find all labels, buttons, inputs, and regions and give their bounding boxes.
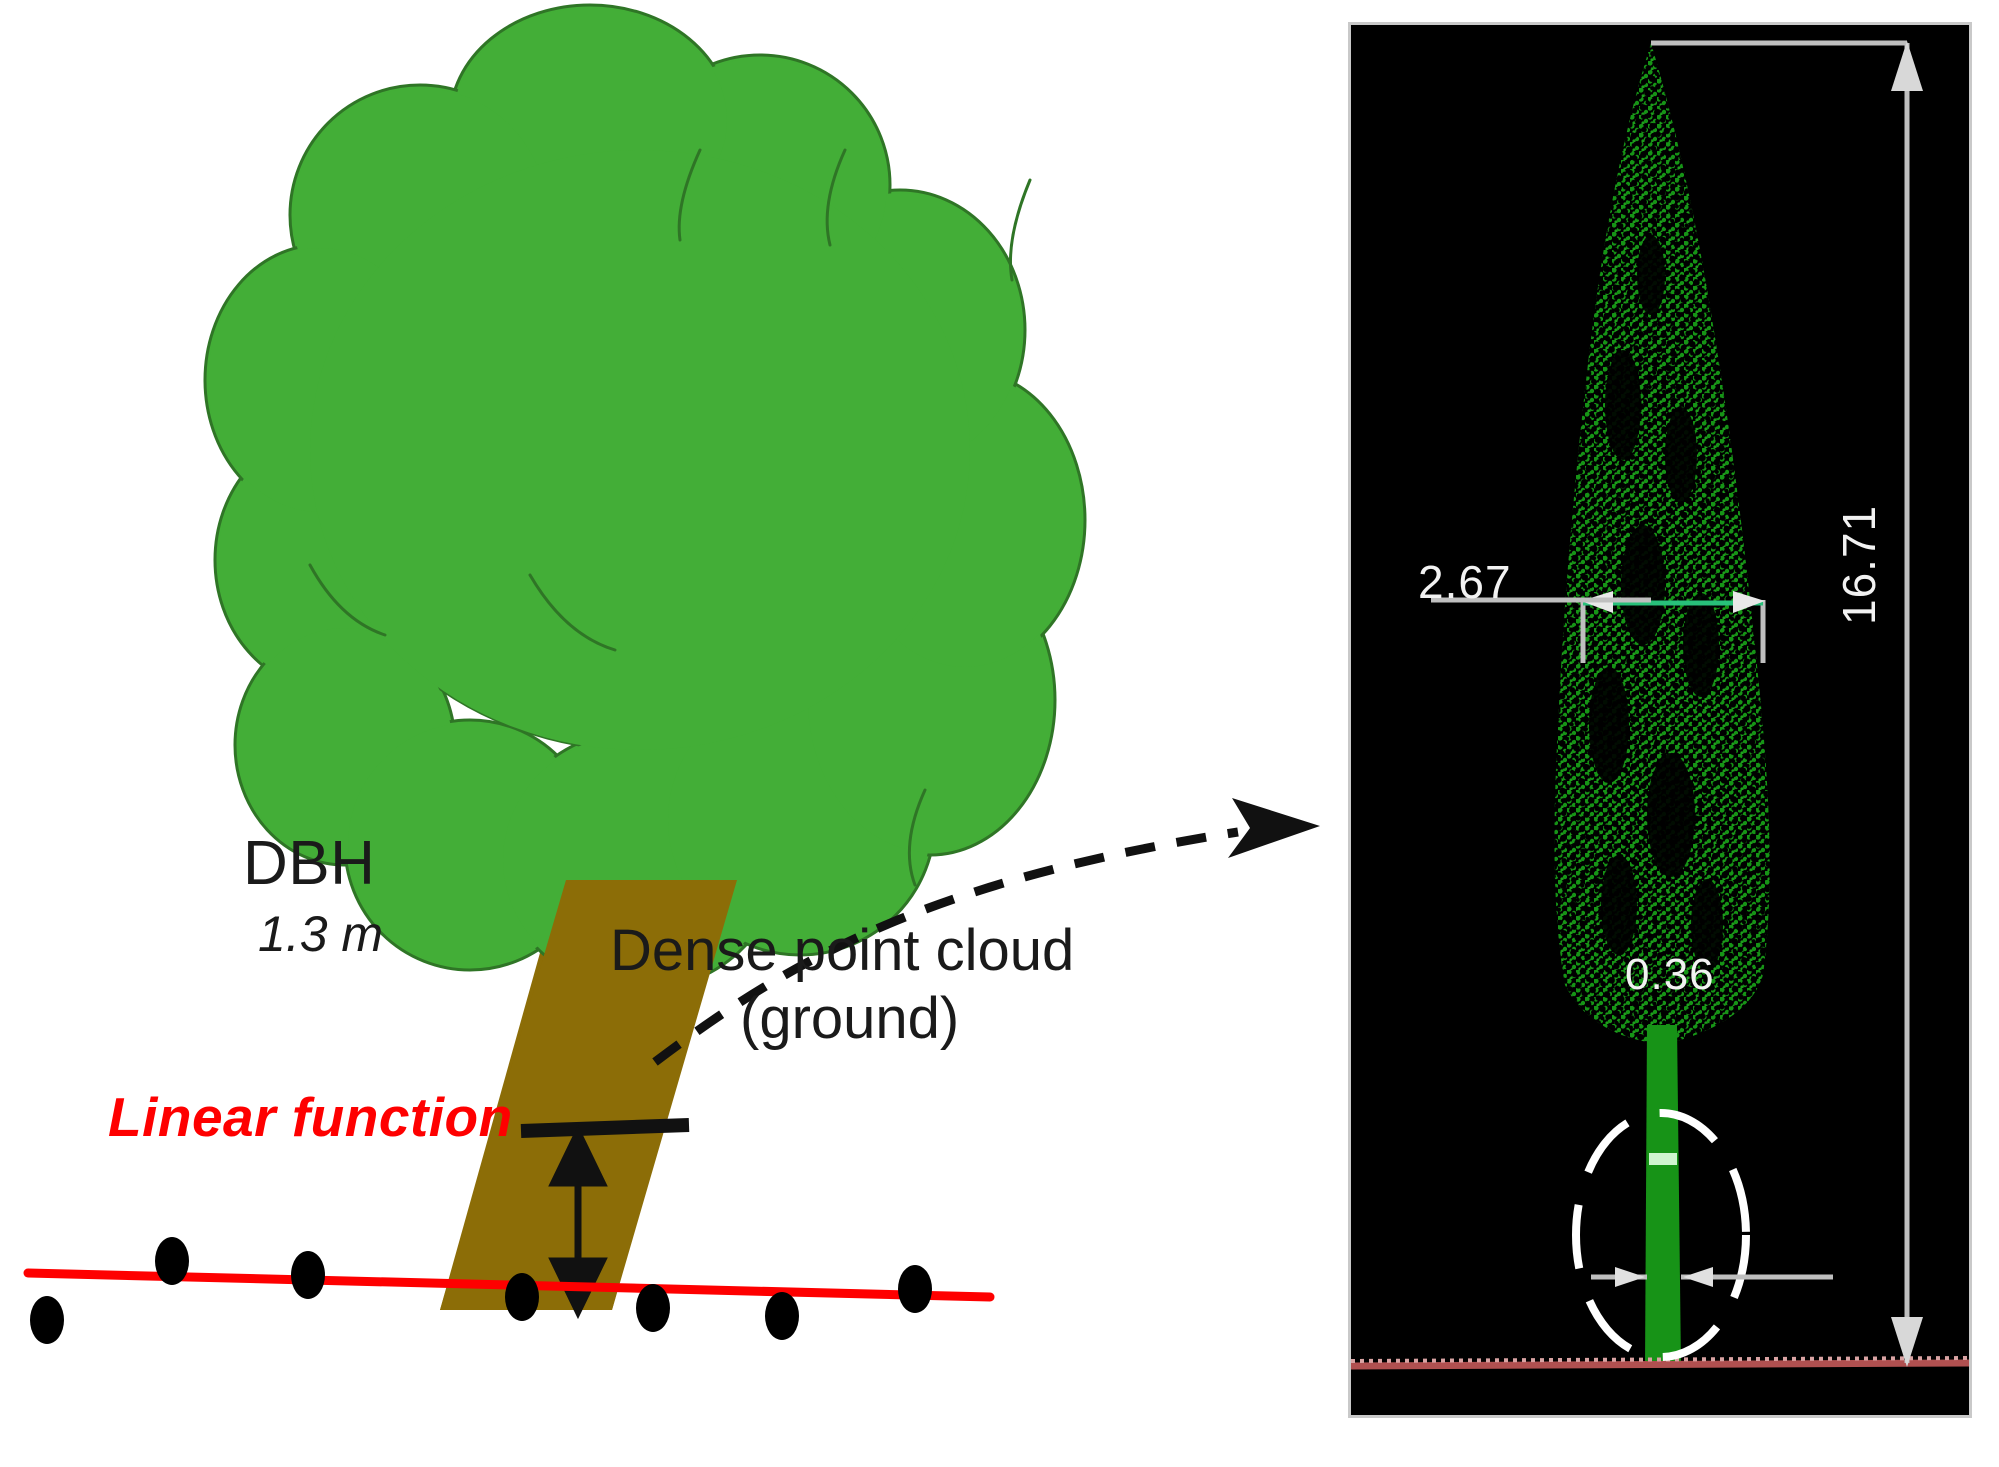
crown-width-value: 2.67 [1418,555,1512,609]
point-cloud-panel: 2.67 16.71 0.36 [1348,22,1972,1418]
dense-point-cloud-label-line2: (ground) [740,985,959,1052]
ground-point [765,1292,799,1340]
dbh-label: DBH [243,828,375,899]
ground-point [30,1296,64,1344]
ground-point [291,1251,325,1299]
trunk-diameter-value: 0.36 [1625,950,1715,1000]
tree-height-value: 16.71 [1832,505,1886,625]
trunk-diameter-arrow-right [1683,1267,1713,1287]
ground-point [505,1273,539,1321]
trunk-diameter-arrow-left [1615,1267,1645,1287]
dbh-tick-mark [521,1125,689,1131]
figure-root: DBH 1.3 m Dense point cloud (ground) Lin… [0,0,1999,1467]
tree-point-cloud [1531,25,1791,1065]
point-cloud-svg [1351,25,1969,1415]
ground-point [636,1284,670,1332]
ground-point [898,1265,932,1313]
height-arrow-top [1891,41,1923,91]
tree-schematic-svg [0,0,1350,1467]
dense-point-cloud-label-line1: Dense point cloud [610,917,1074,984]
linear-function-label: Linear function [108,1085,513,1149]
tree-schematic-panel: DBH 1.3 m Dense point cloud (ground) Lin… [0,0,1350,1467]
panel-ground-line [1351,1363,1969,1366]
ground-point [155,1237,189,1285]
dbh-height-label: 1.3 m [258,905,383,963]
trunk-highlight [1649,1153,1677,1165]
trunk-point-cloud [1645,1025,1681,1367]
